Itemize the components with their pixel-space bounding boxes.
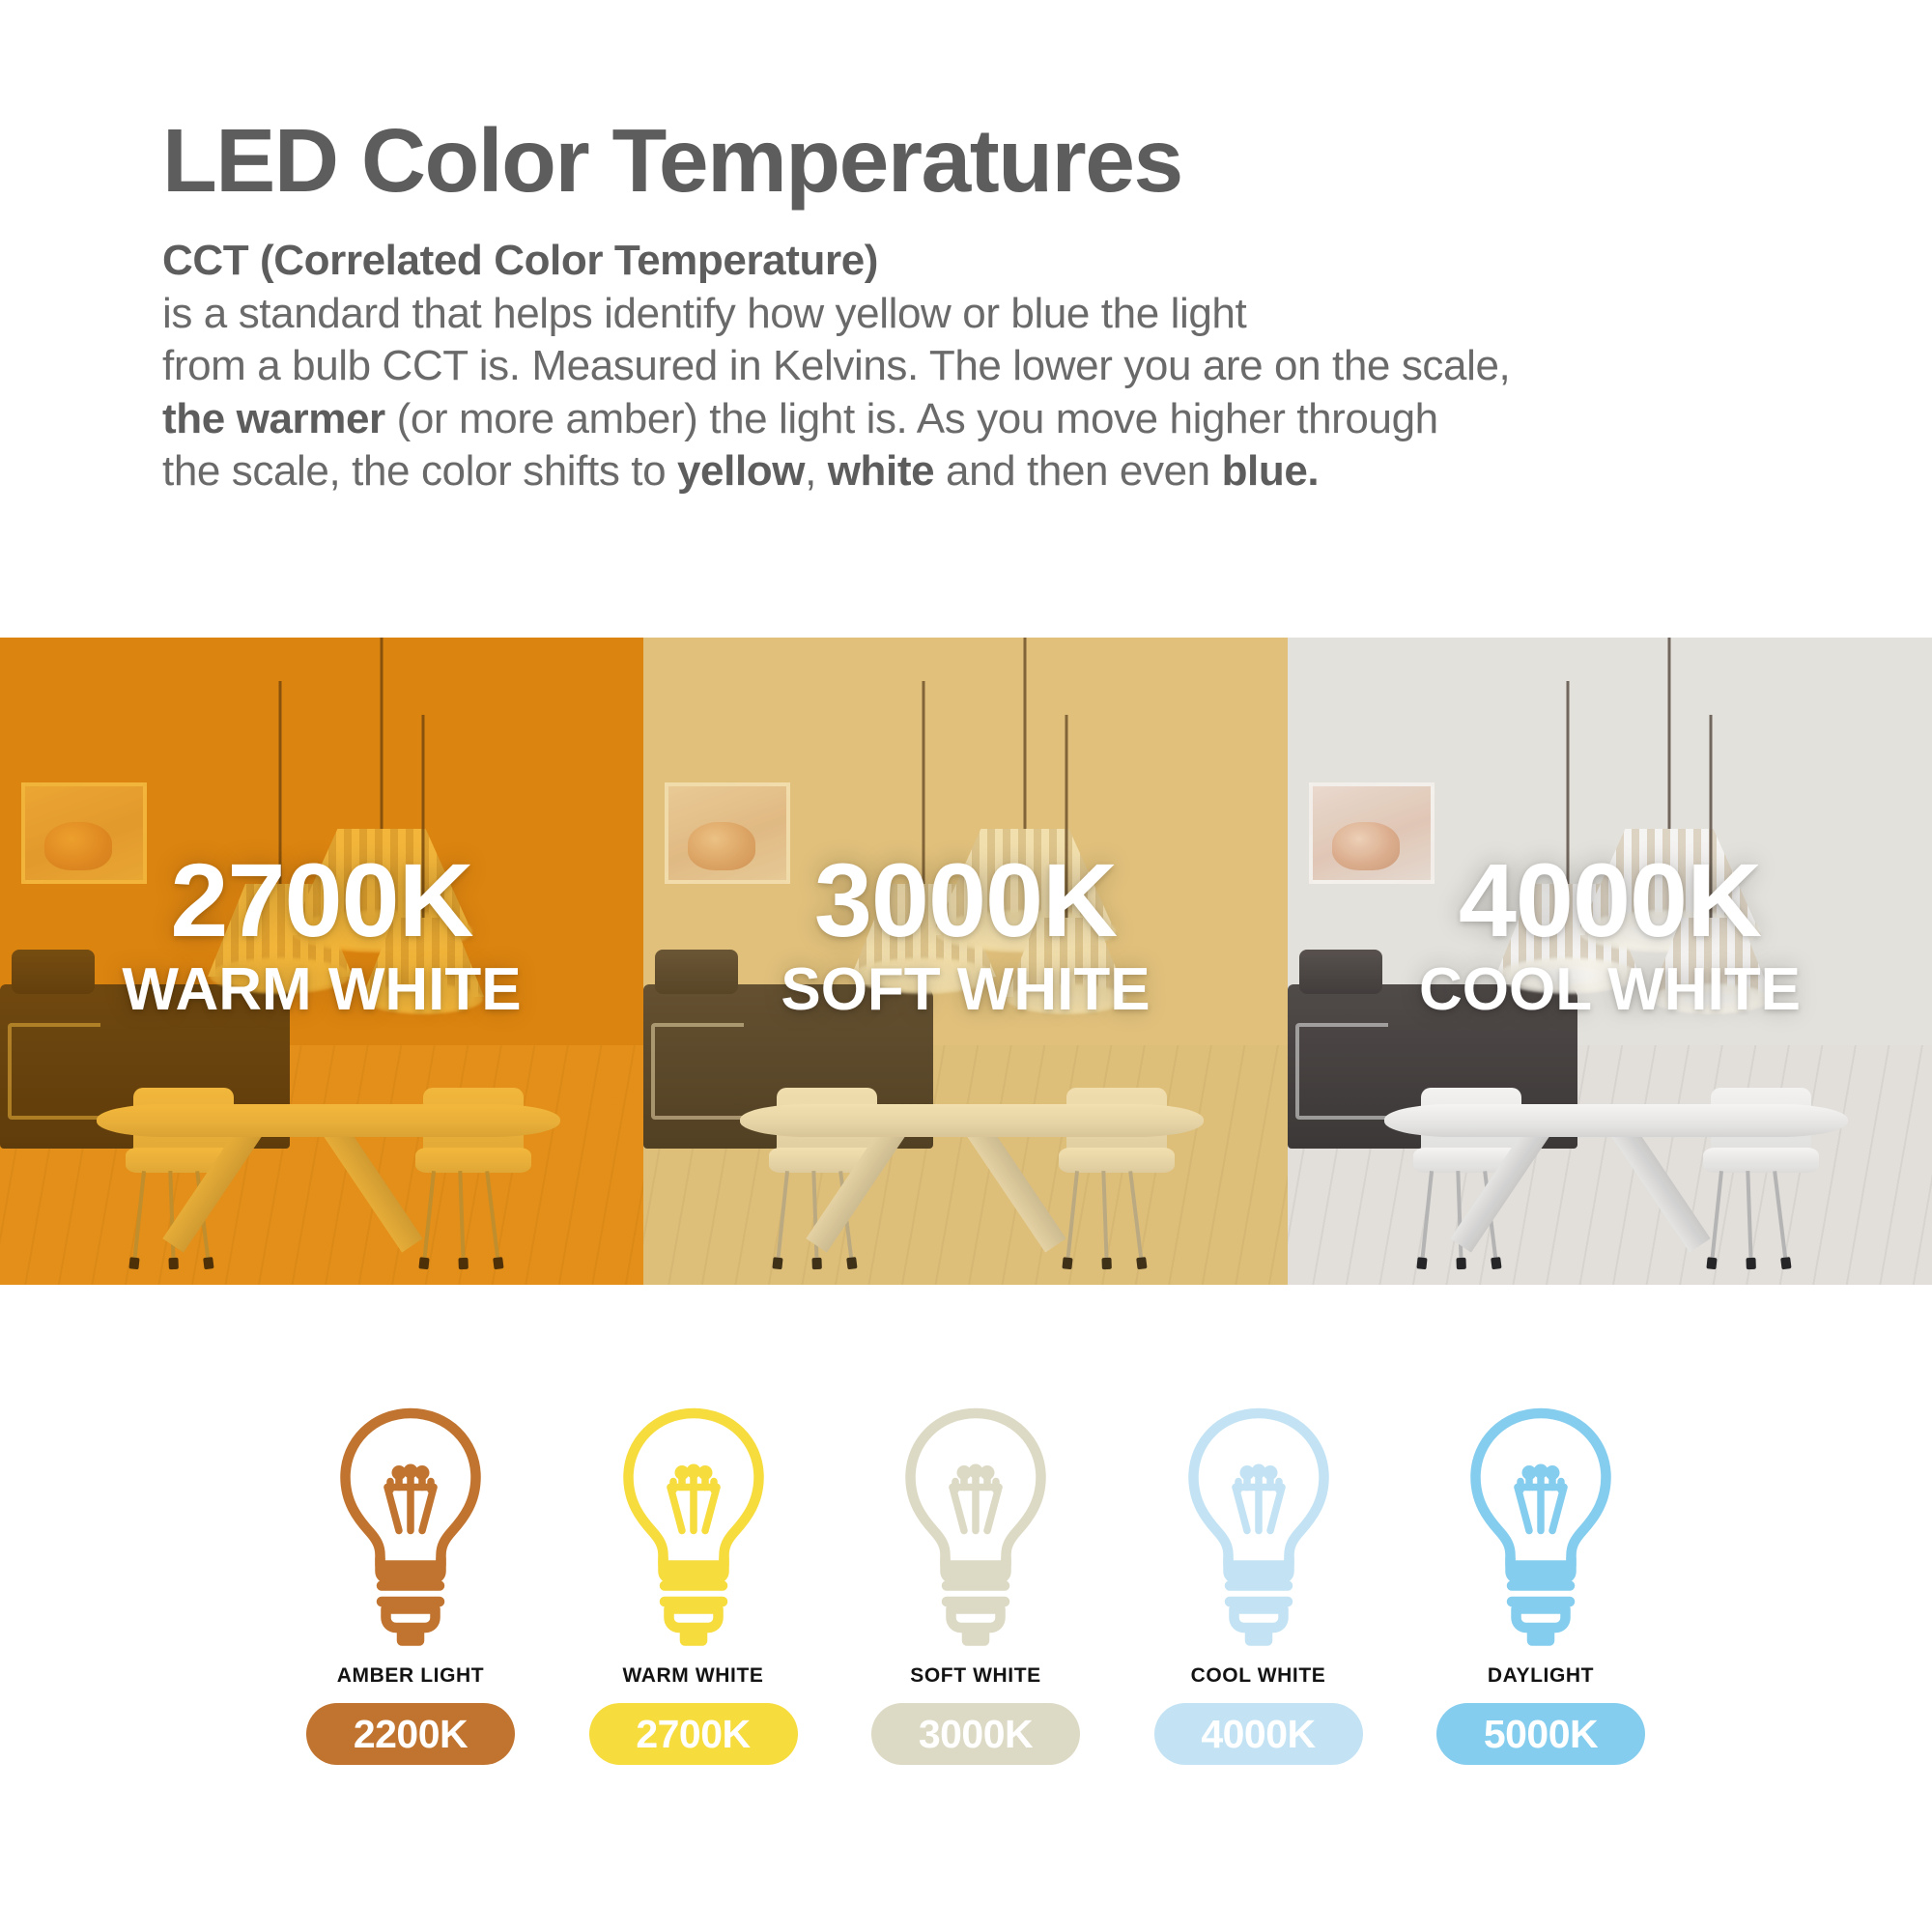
header-block: LED Color Temperatures CCT (Correlated C… xyxy=(162,116,1804,498)
intro-line-4: the scale, the color shifts to yellow, w… xyxy=(162,445,1804,498)
lamp-cord xyxy=(923,681,925,884)
lamp-glow xyxy=(1651,983,1771,1014)
table-leg xyxy=(1608,1119,1710,1253)
lamp-cord xyxy=(279,681,282,884)
lamp-cord xyxy=(1024,638,1027,829)
dining-table xyxy=(740,1104,1204,1239)
emphasis-yellow: yellow xyxy=(677,447,805,495)
table-top xyxy=(97,1104,560,1137)
kelvin-badge[interactable]: 2700K xyxy=(589,1703,798,1765)
bulb-cell-3000k[interactable]: SOFT WHITE3000K xyxy=(855,1406,1096,1765)
lamp-cord xyxy=(1668,638,1671,829)
sofa-rail xyxy=(1295,1023,1388,1120)
dining-table xyxy=(97,1104,560,1239)
intro-line-3: the warmer (or more amber) the light is.… xyxy=(162,393,1804,446)
room-scene xyxy=(0,638,643,1285)
cct-definition-lead: CCT (Correlated Color Temperature) xyxy=(162,235,1804,288)
light-bulb-icon xyxy=(610,1406,778,1647)
light-bulb-icon xyxy=(892,1406,1060,1647)
bulb-scale-row: AMBER LIGHT2200KWARM WHITE2700KSOFT WHIT… xyxy=(290,1406,1662,1765)
light-bulb-icon xyxy=(1457,1406,1625,1647)
pendant-lamp xyxy=(1006,918,1127,997)
bulb-label: SOFT WHITE xyxy=(910,1664,1041,1688)
sofa-rail xyxy=(651,1023,744,1120)
intro-line-4-d: and then even xyxy=(934,447,1221,495)
emphasis-blue: blue. xyxy=(1222,447,1320,495)
bulb-cell-2700k[interactable]: WARM WHITE2700K xyxy=(573,1406,814,1765)
light-bulb-icon xyxy=(327,1406,495,1647)
room-scene xyxy=(643,638,1288,1285)
bulb-label: WARM WHITE xyxy=(623,1664,764,1688)
bulb-label: COOL WHITE xyxy=(1191,1664,1326,1688)
lamp-cord xyxy=(1567,681,1570,884)
kelvin-badge[interactable]: 2200K xyxy=(306,1703,515,1765)
lamp-glow xyxy=(363,983,483,1014)
intro-paragraph: CCT (Correlated Color Temperature) is a … xyxy=(162,235,1804,498)
photo-comparison-strip: 2700KWARM WHITE3000KSOFT WHITE4000KCOOL … xyxy=(0,638,1932,1285)
kelvin-badge[interactable]: 3000K xyxy=(871,1703,1080,1765)
table-leg xyxy=(1450,1119,1551,1253)
wall-picture-frame xyxy=(1309,782,1435,884)
photo-panel-3000k: 3000KSOFT WHITE xyxy=(643,638,1288,1285)
bulb-cell-5000k[interactable]: DAYLIGHT5000K xyxy=(1420,1406,1662,1765)
lamp-glow xyxy=(1007,983,1126,1014)
intro-line-3-rest: (or more amber) the light is. As you mov… xyxy=(385,395,1438,442)
bulb-cell-4000k[interactable]: COOL WHITE4000K xyxy=(1138,1406,1379,1765)
bulb-cell-2200k[interactable]: AMBER LIGHT2200K xyxy=(290,1406,531,1765)
dining-table xyxy=(1384,1104,1848,1239)
kelvin-badge[interactable]: 5000K xyxy=(1436,1703,1645,1765)
room-scene xyxy=(1288,638,1932,1285)
bulb-label: DAYLIGHT xyxy=(1488,1664,1594,1688)
intro-line-1: is a standard that helps identify how ye… xyxy=(162,288,1804,341)
table-leg xyxy=(964,1119,1065,1253)
intro-line-4-c: , xyxy=(805,447,828,495)
intro-line-2: from a bulb CCT is. Measured in Kelvins.… xyxy=(162,340,1804,393)
lamp-cord xyxy=(422,715,425,918)
emphasis-white: white xyxy=(828,447,934,495)
wall-picture-frame xyxy=(21,782,147,884)
lamp-glow xyxy=(1497,957,1638,994)
lamp-cord xyxy=(1065,715,1068,918)
emphasis-warmer: the warmer xyxy=(162,395,385,442)
light-bulb-icon xyxy=(1175,1406,1343,1647)
lamp-glow xyxy=(853,957,994,994)
table-leg xyxy=(162,1119,264,1253)
table-leg xyxy=(806,1119,907,1253)
bulb-label: AMBER LIGHT xyxy=(337,1664,484,1688)
infographic-page: LED Color Temperatures CCT (Correlated C… xyxy=(0,0,1932,1932)
photo-panel-2700k: 2700KWARM WHITE xyxy=(0,638,643,1285)
pendant-lamp xyxy=(1650,918,1772,997)
wall-picture-frame xyxy=(665,782,790,884)
page-title: LED Color Temperatures xyxy=(162,116,1804,206)
kelvin-badge[interactable]: 4000K xyxy=(1154,1703,1363,1765)
lamp-cord xyxy=(381,638,384,829)
photo-panel-4000k: 4000KCOOL WHITE xyxy=(1288,638,1932,1285)
table-leg xyxy=(321,1119,422,1253)
pendant-lamp xyxy=(362,918,484,997)
intro-line-4-a: the scale, the color shifts to xyxy=(162,447,677,495)
sofa-rail xyxy=(8,1023,100,1120)
lamp-cord xyxy=(1710,715,1713,918)
table-top xyxy=(740,1104,1204,1137)
table-top xyxy=(1384,1104,1848,1137)
lamp-glow xyxy=(210,957,351,994)
